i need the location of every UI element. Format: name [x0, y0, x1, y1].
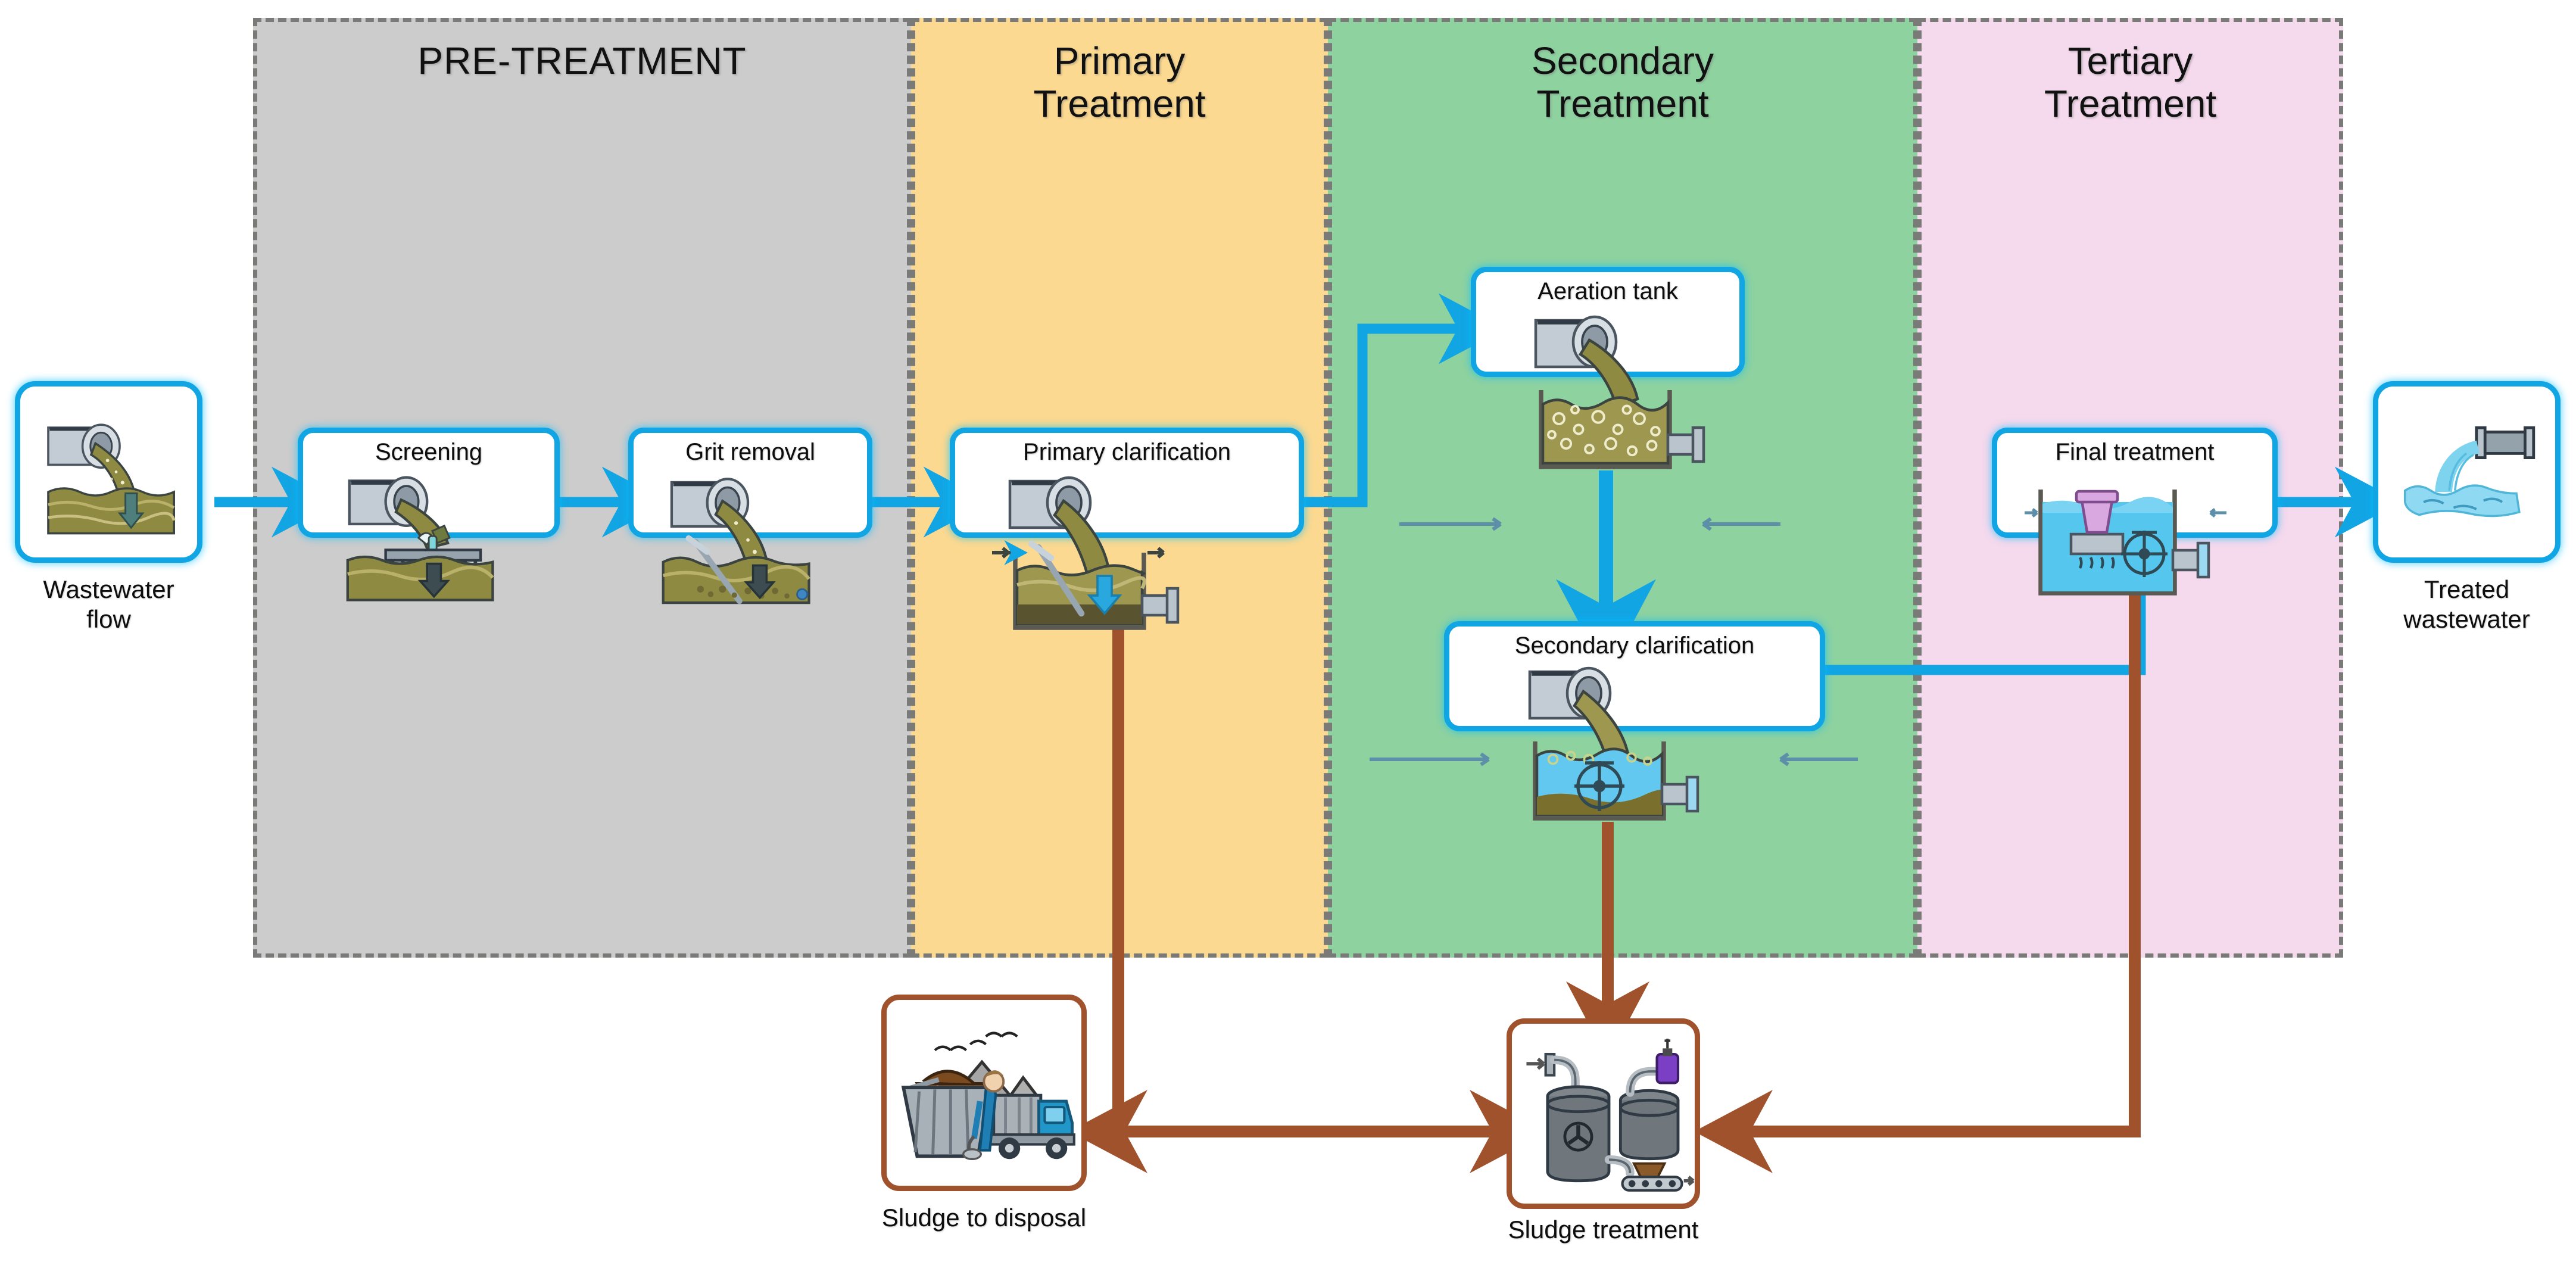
- secondary-inlet-marker: [1370, 754, 1489, 765]
- process-flow-diagram: PRE-TREATMENT Primary Treatment Secondar…: [0, 0, 2576, 1281]
- secondary-outlet-marker: [1780, 754, 1858, 765]
- aeration-outlet-marker: [1703, 519, 1780, 529]
- aeration-inlet-marker: [1399, 519, 1501, 529]
- tank-port-marker-layer: [0, 0, 2576, 1281]
